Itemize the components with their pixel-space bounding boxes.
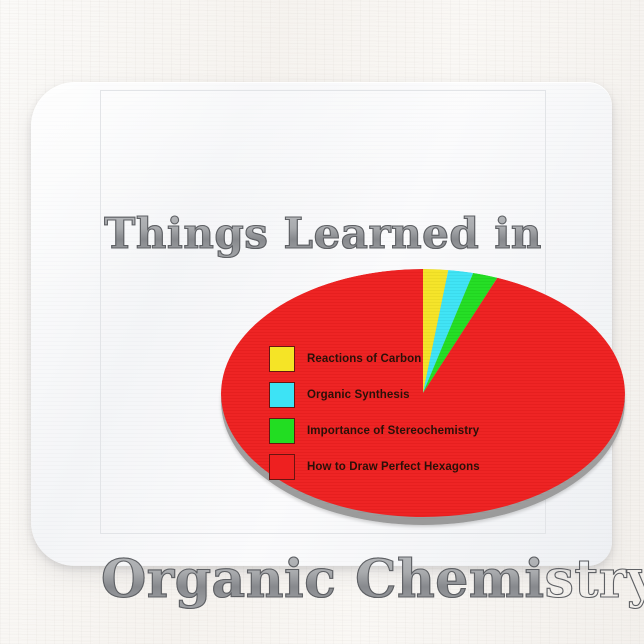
mouse-pad: Things Learned in Reactions of Carbon (31, 82, 612, 566)
product-photo: Things Learned in Reactions of Carbon (0, 0, 644, 644)
title-bottom: Organic Chemistry (101, 549, 545, 610)
legend-label: Organic Synthesis (307, 389, 410, 401)
list-item: How to Draw Perfect Hexagons (269, 451, 480, 483)
list-item: Importance of Stereochemistry (269, 415, 480, 447)
chart-legend: Reactions of Carbon Organic Synthesis Im… (269, 343, 480, 487)
legend-swatch-organic-synthesis (269, 382, 295, 408)
list-item: Organic Synthesis (269, 379, 480, 411)
legend-swatch-how-to-draw-perfect-hexagons (269, 454, 295, 480)
legend-swatch-reactions-of-carbon (269, 346, 295, 372)
printed-design-frame: Things Learned in Reactions of Carbon (100, 90, 546, 534)
title-top: Things Learned in (101, 209, 545, 258)
legend-swatch-importance-of-stereochemistry (269, 418, 295, 444)
legend-label: How to Draw Perfect Hexagons (307, 461, 480, 473)
list-item: Reactions of Carbon (269, 343, 480, 375)
legend-label: Reactions of Carbon (307, 353, 421, 365)
legend-label: Importance of Stereochemistry (307, 425, 479, 437)
